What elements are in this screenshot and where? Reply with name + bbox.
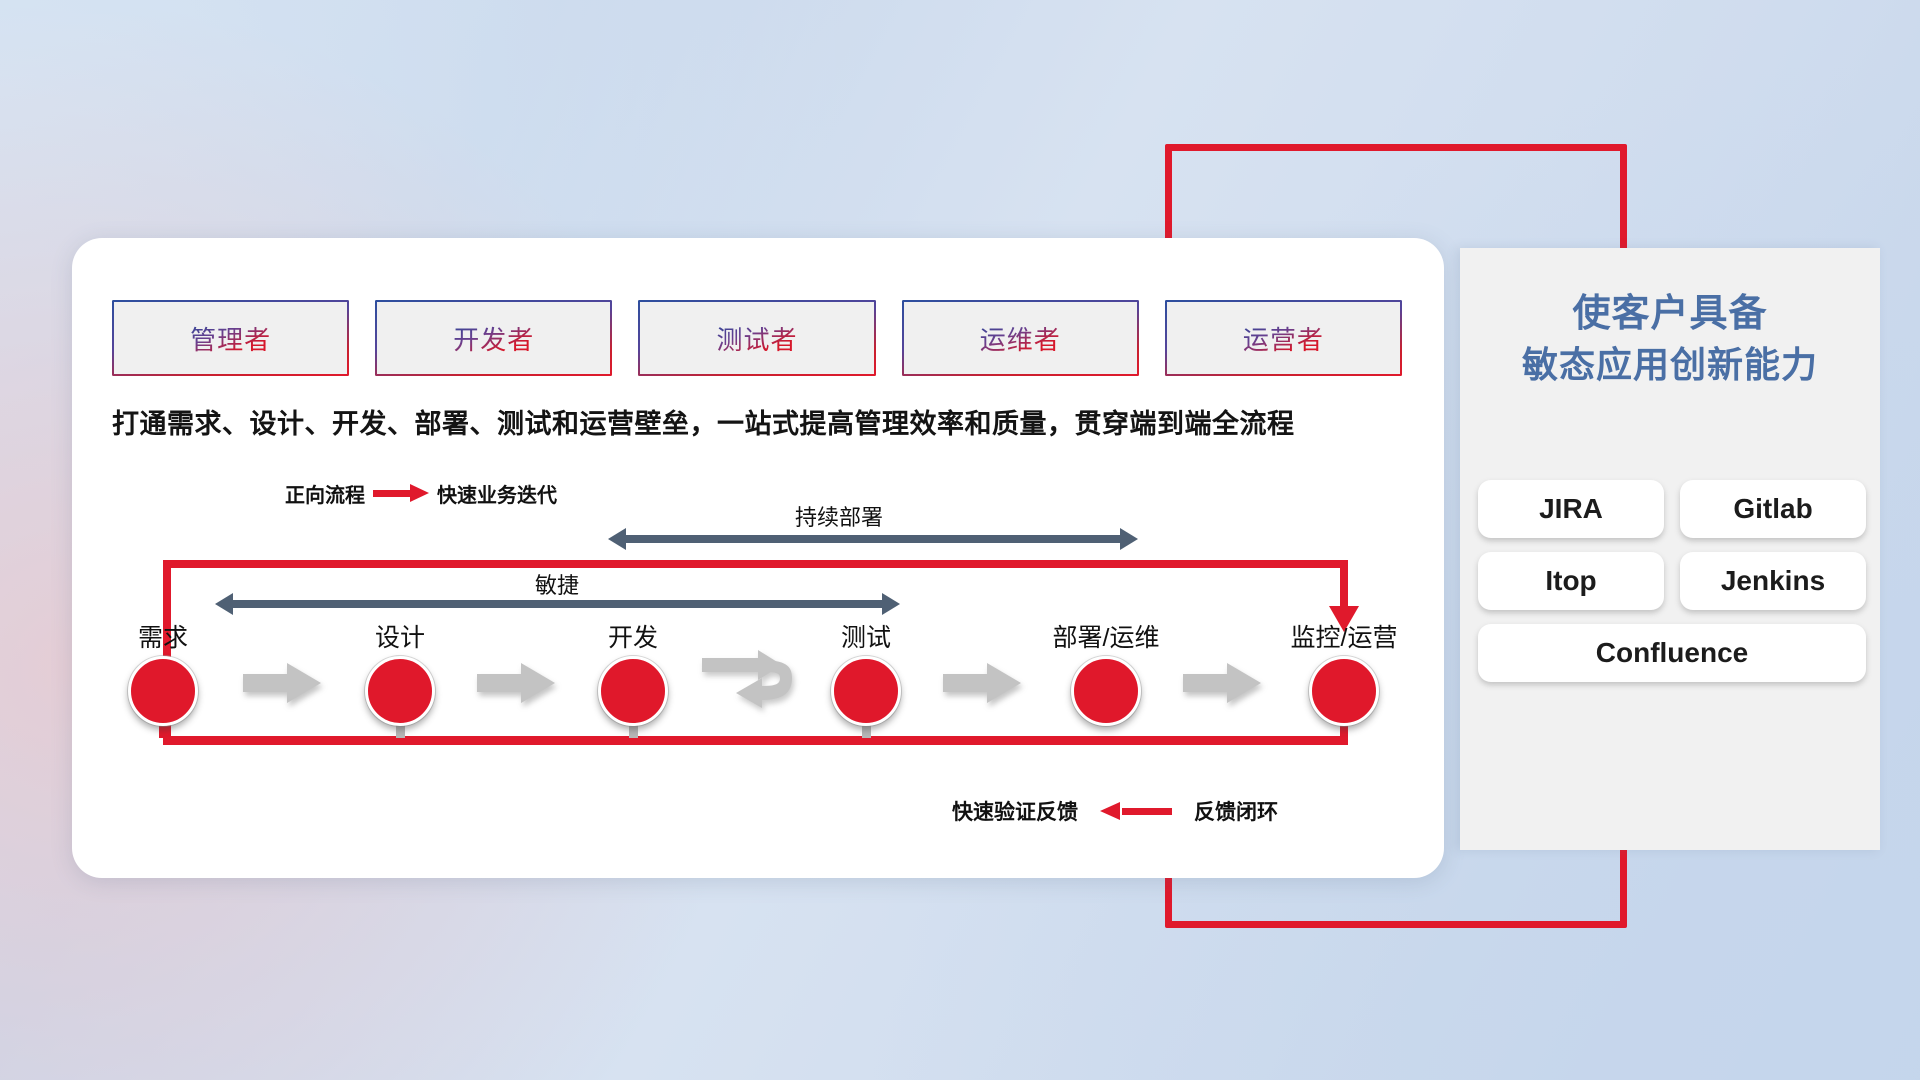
chevron-right-icon-1	[243, 661, 321, 705]
span-arrow-agile	[215, 593, 900, 615]
arrow-bar	[232, 600, 883, 608]
pipeline-node-design[interactable]: 设计	[330, 618, 470, 726]
node-label: 开发	[563, 618, 703, 654]
node-dot-icon	[831, 656, 901, 726]
role-box-tester[interactable]: 测试者	[638, 300, 875, 376]
role-box-manager[interactable]: 管理者	[112, 300, 349, 376]
feedback-right-label: 反馈闭环	[1194, 796, 1278, 826]
description-text: 打通需求、设计、开发、部署、测试和运营壁垒，一站式提高管理效率和质量，贯穿端到端…	[112, 402, 1412, 441]
tool-button-gitlab[interactable]: Gitlab	[1680, 480, 1866, 538]
pipeline-node-deploy-ops[interactable]: 部署/运维	[1036, 618, 1176, 726]
tool-button-confluence[interactable]: Confluence	[1478, 624, 1866, 682]
node-dot-icon	[1071, 656, 1141, 726]
node-label: 设计	[330, 618, 470, 654]
red-loop-top	[167, 560, 1344, 568]
node-label: 部署/运维	[1036, 618, 1176, 654]
node-label: 需求	[93, 618, 233, 654]
arrow-right-icon	[373, 482, 429, 504]
node-label: 监控/运营	[1274, 618, 1414, 654]
arrow-head-left-icon	[215, 593, 233, 615]
tool-button-jira[interactable]: JIRA	[1478, 480, 1664, 538]
role-label: 测试者	[717, 320, 798, 357]
feedback-left-label: 快速验证反馈	[952, 796, 1078, 826]
node-label: 测试	[796, 618, 936, 654]
arrow-left-icon	[1100, 800, 1172, 822]
forward-flow-left-label: 正向流程	[285, 479, 365, 508]
role-label: 管理者	[190, 320, 271, 357]
pipeline-node-monitor-operate[interactable]: 监控/运营	[1274, 618, 1414, 726]
chevron-right-icon-4	[1183, 661, 1261, 705]
role-label: 开发者	[453, 320, 534, 357]
red-loop-bottom	[163, 736, 1348, 745]
slide-canvas: 管理者 开发者 测试者 运维者 运营者 打通需求、设计、开发、部署、测试和运营壁…	[0, 0, 1920, 1080]
arrow-bar	[625, 535, 1121, 543]
tool-button-itop[interactable]: Itop	[1478, 552, 1664, 610]
role-box-developer[interactable]: 开发者	[375, 300, 612, 376]
loop-back-icon	[700, 648, 796, 722]
role-label: 运营者	[1243, 320, 1324, 357]
node-dot-icon	[598, 656, 668, 726]
pipeline-node-testing[interactable]: 测试	[796, 618, 936, 726]
pipeline-node-development[interactable]: 开发	[563, 618, 703, 726]
role-box-operator[interactable]: 运营者	[1165, 300, 1402, 376]
node-dot-icon	[365, 656, 435, 726]
panel-title-line1: 使客户具备	[1460, 288, 1880, 340]
role-box-ops[interactable]: 运维者	[902, 300, 1139, 376]
chevron-right-icon-3	[943, 661, 1021, 705]
arrow-head-left-icon	[608, 528, 626, 550]
panel-title: 使客户具备 敏态应用创新能力	[1460, 288, 1880, 390]
node-dot-icon	[1309, 656, 1379, 726]
node-dot-icon	[128, 656, 198, 726]
panel-title-line2: 敏态应用创新能力	[1460, 340, 1880, 390]
role-boxes-row: 管理者 开发者 测试者 运维者 运营者	[112, 300, 1402, 376]
role-label: 运维者	[980, 320, 1061, 357]
span-arrow-continuous-deploy	[608, 528, 1138, 550]
chevron-right-icon-2	[477, 661, 555, 705]
feedback-legend: 快速验证反馈 反馈闭环	[952, 795, 1278, 827]
forward-flow-legend: 正向流程 快速业务迭代	[285, 478, 557, 508]
arrow-head-right-icon	[1120, 528, 1138, 550]
tool-list: JIRA Gitlab Itop Jenkins Confluence	[1478, 480, 1866, 682]
red-loop-right-upper	[1340, 560, 1348, 612]
forward-flow-right-label: 快速业务迭代	[437, 479, 557, 508]
pipeline-node-requirement[interactable]: 需求	[93, 618, 233, 726]
arrow-head-right-icon	[882, 593, 900, 615]
tool-button-jenkins[interactable]: Jenkins	[1680, 552, 1866, 610]
